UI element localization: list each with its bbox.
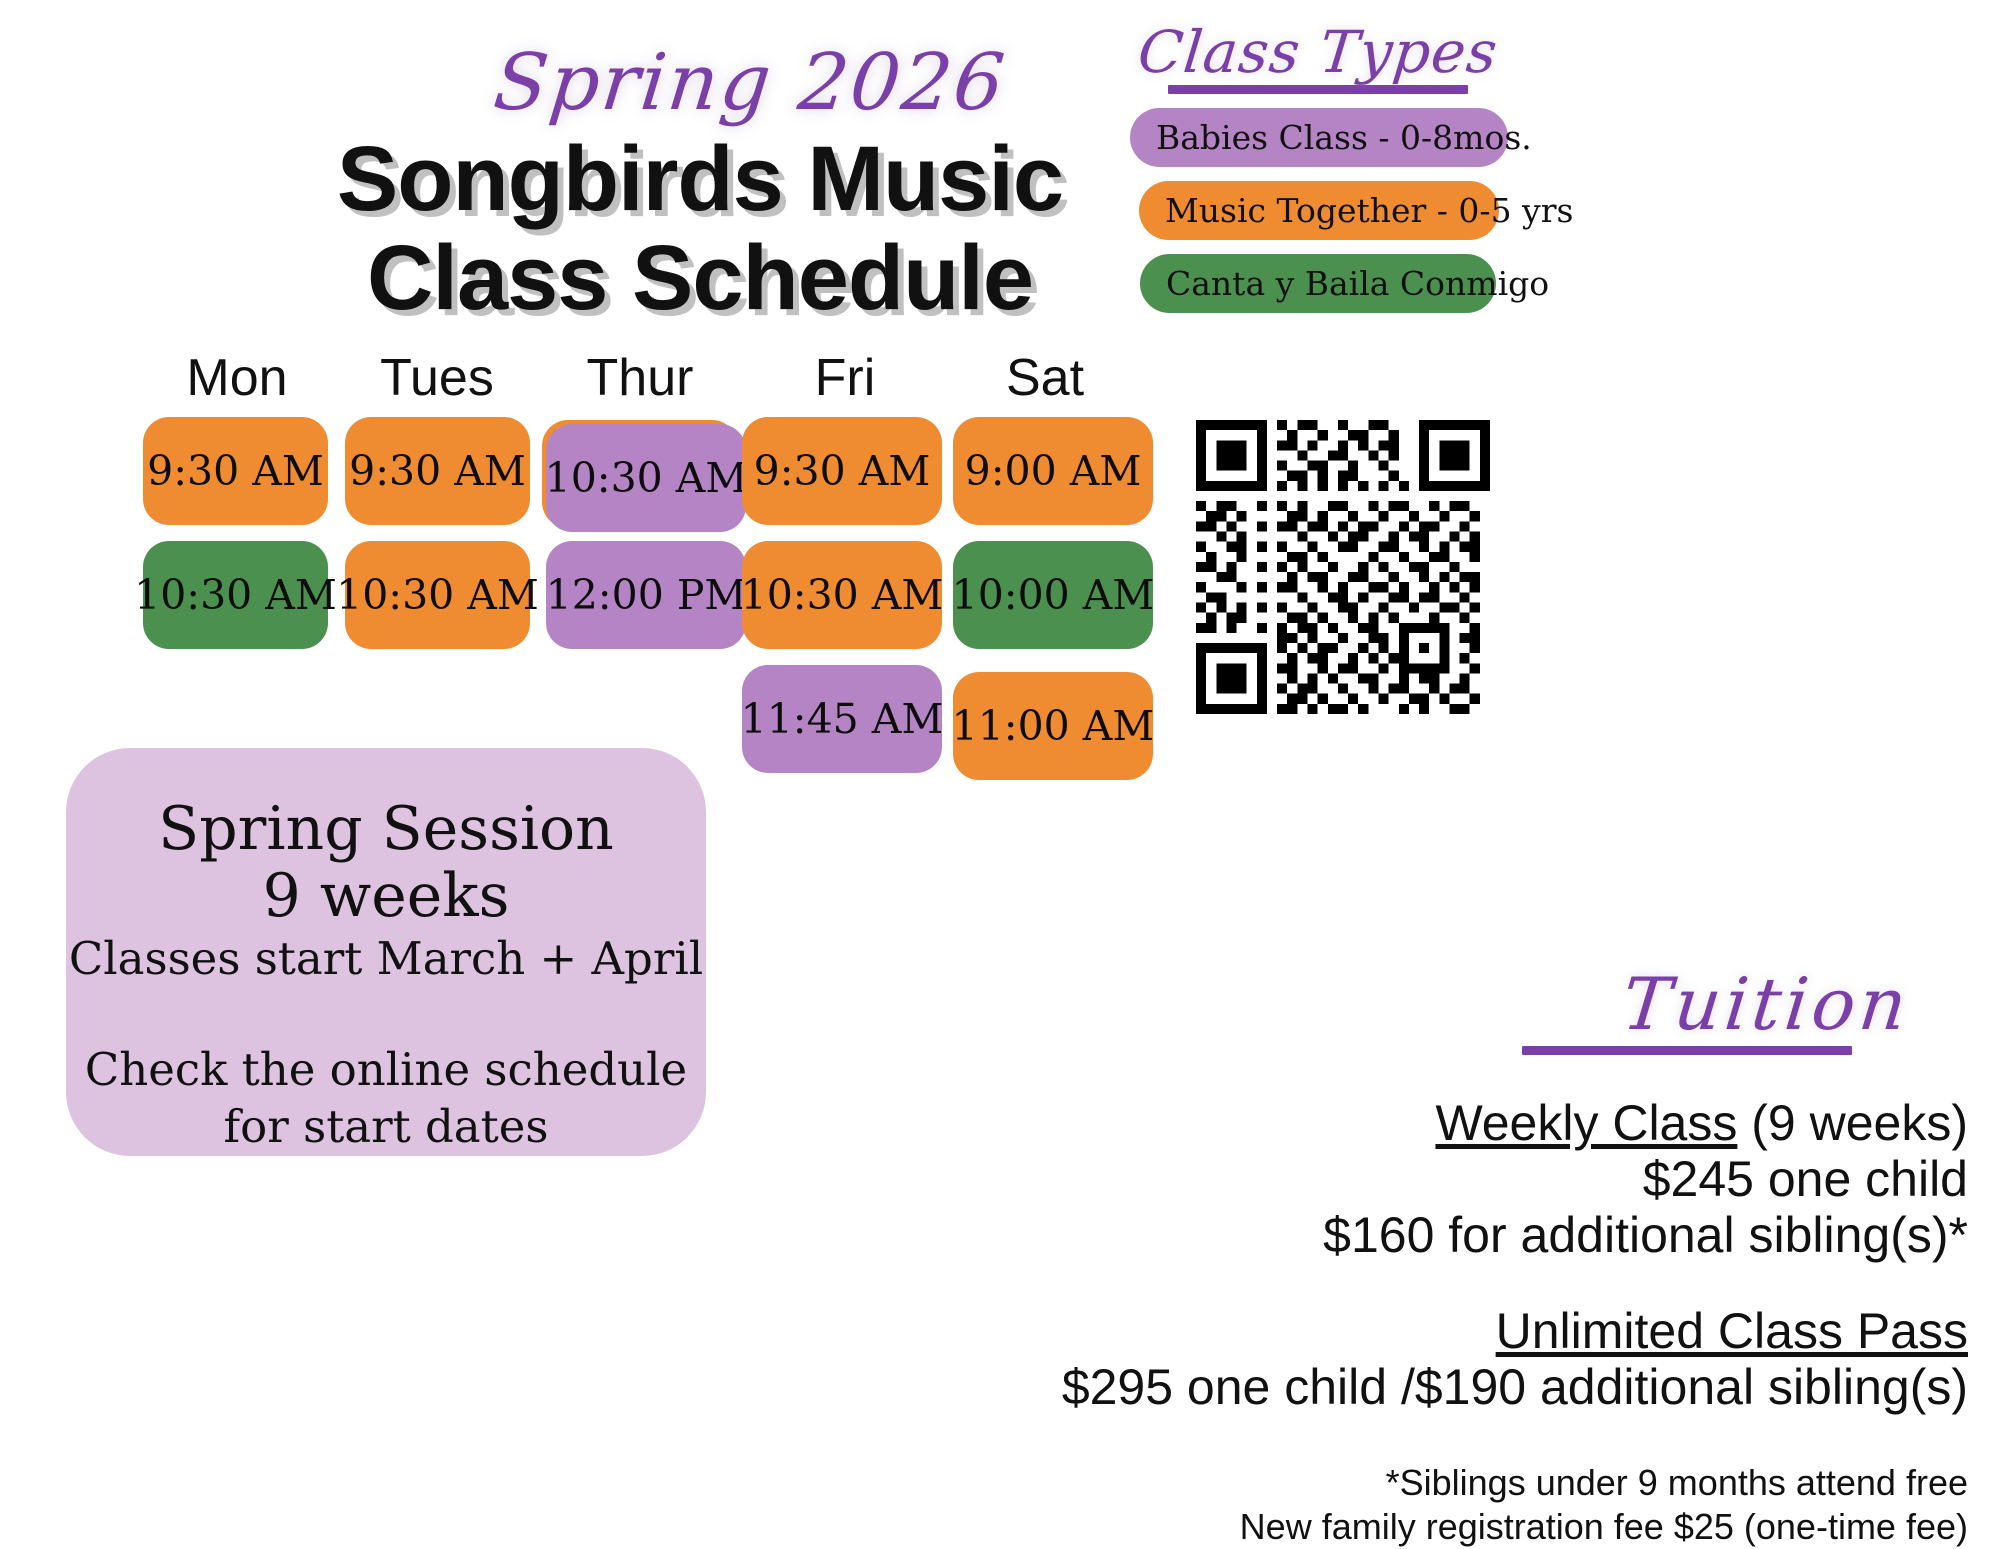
legend-pill-music-together: Music Together - 0-5 yrs bbox=[1139, 181, 1499, 240]
session-check-line-2: for start dates bbox=[224, 1100, 549, 1153]
session-check-online: Check the online schedule for start date… bbox=[85, 1042, 687, 1155]
page-title-line-2: Class Schedule bbox=[250, 229, 1150, 328]
slot-fri-1: 9:30 AM bbox=[742, 417, 942, 525]
spring-session-panel: Spring Session 9 weeks Classes start Mar… bbox=[66, 748, 706, 1156]
session-check-line-1: Check the online schedule bbox=[85, 1043, 687, 1096]
tuition-weekly-weeks: (9 weeks) bbox=[1737, 1095, 1968, 1151]
day-header-sat: Sat bbox=[930, 348, 1160, 408]
slot-thur-2: 12:00 PM bbox=[546, 541, 746, 649]
season-title: Spring 2026 bbox=[465, 38, 1034, 128]
class-types-underline bbox=[1168, 85, 1468, 94]
tuition-weekly-heading: Weekly Class (9 weeks) bbox=[930, 1095, 1990, 1151]
slot-fri-2: 10:30 AM bbox=[742, 541, 942, 649]
slot-sat-2: 10:00 AM bbox=[953, 541, 1153, 649]
page-title: Songbirds Music Class Schedule bbox=[250, 130, 1150, 329]
qr-code[interactable] bbox=[1196, 420, 1490, 714]
day-header-thur: Thur bbox=[525, 348, 755, 408]
qr-code-image bbox=[1196, 420, 1490, 714]
slot-tues-2: 10:30 AM bbox=[345, 541, 530, 649]
slot-sat-3: 11:00 AM bbox=[953, 672, 1153, 780]
class-types-legend: Class Types Babies Class - 0-8mos. Music… bbox=[1128, 22, 1508, 313]
day-header-tues: Tues bbox=[322, 348, 552, 408]
tuition-section: Tuition Weekly Class (9 weeks) $245 one … bbox=[930, 968, 1990, 1549]
poster-root: Spring 2026 Songbirds Music Class Schedu… bbox=[0, 0, 1999, 1545]
tuition-weekly-price-sibling: $160 for additional sibling(s)* bbox=[930, 1207, 1990, 1263]
slot-mon-2: 10:30 AM bbox=[143, 541, 328, 649]
slot-tues-1: 9:30 AM bbox=[345, 417, 530, 525]
tuition-pass-price: $295 one child /$190 additional sibling(… bbox=[930, 1359, 1990, 1415]
class-types-heading: Class Types bbox=[1125, 22, 1511, 83]
day-header-fri: Fri bbox=[730, 348, 960, 408]
tuition-pass-label: Unlimited Class Pass bbox=[1496, 1303, 1968, 1359]
session-start: Classes start March + April bbox=[69, 932, 703, 986]
tuition-pass-heading: Unlimited Class Pass bbox=[930, 1303, 1990, 1359]
tuition-note-registration: New family registration fee $25 (one-tim… bbox=[930, 1505, 1990, 1549]
tuition-weekly-price-one-child: $245 one child bbox=[930, 1151, 1990, 1207]
slot-mon-1: 9:30 AM bbox=[143, 417, 328, 525]
slot-fri-3: 11:45 AM bbox=[742, 665, 942, 773]
session-title: Spring Session bbox=[158, 796, 614, 863]
legend-pill-canta-y-baila: Canta y Baila Conmigo bbox=[1140, 254, 1496, 313]
day-header-mon: Mon bbox=[122, 348, 352, 408]
tuition-weekly-label: Weekly Class bbox=[1435, 1095, 1737, 1151]
page-title-line-1: Songbirds Music bbox=[250, 130, 1150, 229]
slot-thur-1: 10:30 AM bbox=[546, 424, 746, 532]
slot-sat-1: 9:00 AM bbox=[953, 417, 1153, 525]
session-weeks: 9 weeks bbox=[263, 863, 510, 930]
legend-pill-babies: Babies Class - 0-8mos. bbox=[1130, 108, 1508, 167]
tuition-heading: Tuition bbox=[926, 968, 1994, 1040]
tuition-note-siblings: *Siblings under 9 months attend free bbox=[930, 1461, 1990, 1505]
tuition-underline bbox=[1522, 1046, 1852, 1055]
